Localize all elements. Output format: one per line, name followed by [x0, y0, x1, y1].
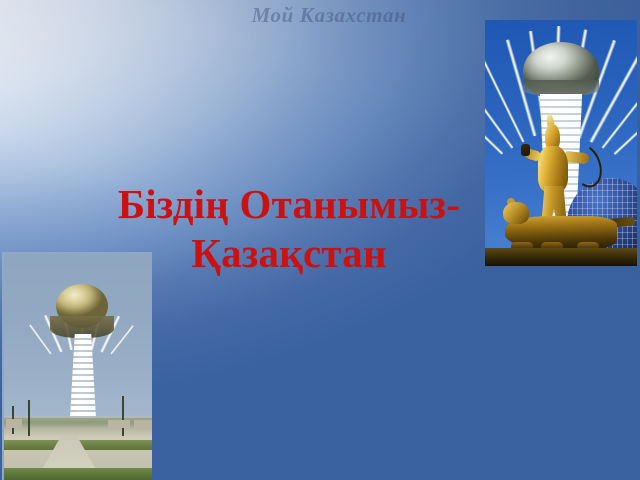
distant-building: [108, 420, 130, 428]
page-title: Біздің Отанымыз- Қазақстан: [54, 180, 524, 278]
distant-building: [134, 420, 152, 430]
gold-title: Мой Казахстан: [203, 1, 453, 28]
golden-warrior-torso: [538, 146, 568, 192]
distant-building: [6, 419, 22, 428]
bayterek-tower-photo-image: [2, 252, 152, 480]
page-title-line1: Біздің Отанымыз-: [54, 180, 524, 229]
page-title-line2: Қазақстан: [54, 229, 524, 278]
bayterek-sphere-band: [523, 80, 599, 96]
light-pole: [28, 400, 30, 436]
light-pole: [122, 396, 124, 436]
golden-warrior-mace: [521, 144, 530, 156]
presentation-slide: Мой Казахстан Мой Казахстан: [0, 0, 640, 480]
grass-strip-lower: [4, 468, 152, 480]
